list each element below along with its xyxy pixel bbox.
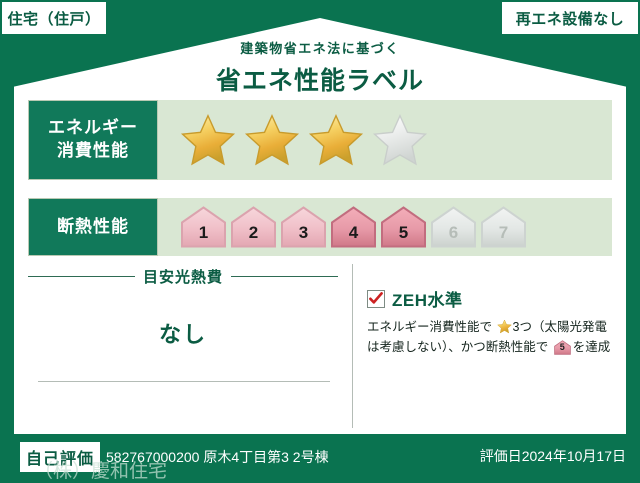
zeh-title: ZEH水準	[392, 286, 463, 311]
rule-right	[231, 276, 338, 277]
utility-cost-heading-text: 目安光熱費	[143, 266, 223, 287]
vertical-divider	[352, 264, 353, 428]
energy-label-root: 住宅（住戸） 再エネ設備なし 建築物省エネ法に基づく 省エネ性能ラベル エネルギ…	[0, 0, 640, 480]
zeh-desc-part3: を達成	[573, 340, 611, 354]
energy-performance-value	[158, 100, 612, 180]
energy-performance-row: エネルギー 消費性能	[28, 100, 612, 180]
check-icon	[369, 292, 383, 306]
insulation-level-7: 7	[480, 205, 527, 249]
insulation-badge-value: 5	[554, 340, 571, 355]
rule-left	[28, 276, 135, 277]
star-icon-filled	[180, 112, 236, 168]
insulation-level-label: 5	[399, 223, 408, 249]
zeh-desc-part1: エネルギー消費性能で	[367, 320, 492, 334]
evaluation-date: 評価日2024年10月17日	[480, 446, 626, 466]
utility-cost-value: なし	[28, 317, 338, 349]
insulation-performance-value: 1234567	[158, 198, 612, 256]
energy-performance-label-line1: エネルギー	[48, 117, 138, 140]
zeh-description: エネルギー消費性能で 3つ（太陽光発電 は考慮しない）、かつ断熱性能で 5 を達…	[367, 318, 612, 358]
zeh-checkbox[interactable]	[367, 290, 385, 308]
star-icon	[497, 319, 512, 334]
top-bar: 住宅（住戸） 再エネ設備なし	[0, 0, 640, 36]
label-subtitle: 建築物省エネ法に基づく	[0, 38, 640, 57]
star-icon-filled	[244, 112, 300, 168]
building-type-tag: 住宅（住戸）	[2, 2, 106, 34]
energy-performance-label-line2: 消費性能	[57, 140, 129, 163]
insulation-level-scale: 1234567	[180, 205, 527, 249]
insulation-level-label: 6	[449, 223, 458, 249]
page-title: 省エネ性能ラベル	[0, 61, 640, 97]
footer: 自己評価 582767000200 原木4丁目第3 2号棟 （株）慶和住宅 評価…	[0, 434, 640, 480]
insulation-level-1: 1	[180, 205, 227, 249]
zeh-desc-star-count: 3つ（太陽光発電	[513, 320, 607, 334]
company-watermark: （株）慶和住宅	[34, 456, 167, 483]
zeh-desc-part2: は考慮しない）、かつ断熱性能で	[367, 340, 548, 354]
insulation-level-3: 3	[280, 205, 327, 249]
insulation-level-6: 6	[430, 205, 477, 249]
horizontal-divider	[38, 381, 330, 382]
insulation-level-5: 5	[380, 205, 427, 249]
energy-performance-label: エネルギー 消費性能	[28, 100, 158, 180]
insulation-badge-icon: 5	[554, 340, 571, 355]
insulation-level-label: 4	[349, 223, 358, 249]
zeh-heading: ZEH水準	[367, 286, 612, 311]
utility-cost-heading: 目安光熱費	[28, 266, 338, 287]
insulation-level-label: 7	[499, 223, 508, 249]
renewable-energy-tag: 再エネ設備なし	[502, 2, 638, 34]
zeh-section: ZEH水準 エネルギー消費性能で 3つ（太陽光発電 は考慮しない）、かつ断熱性能…	[367, 264, 612, 428]
insulation-level-label: 2	[249, 223, 258, 249]
insulation-level-2: 2	[230, 205, 277, 249]
star-icon-empty	[372, 112, 428, 168]
label-heading: 建築物省エネ法に基づく 省エネ性能ラベル	[0, 38, 640, 97]
star-icon-filled	[308, 112, 364, 168]
star-rating	[180, 112, 428, 168]
insulation-performance-row: 断熱性能 1234567	[28, 198, 612, 256]
insulation-level-label: 1	[199, 223, 208, 249]
insulation-performance-label: 断熱性能	[28, 198, 158, 256]
insulation-level-4: 4	[330, 205, 377, 249]
insulation-level-label: 3	[299, 223, 308, 249]
lower-panel: 目安光熱費 なし ZEH水準 エネルギー消費性能で 3つ（太陽光発電	[28, 264, 612, 428]
utility-cost-section: 目安光熱費 なし	[28, 264, 338, 428]
